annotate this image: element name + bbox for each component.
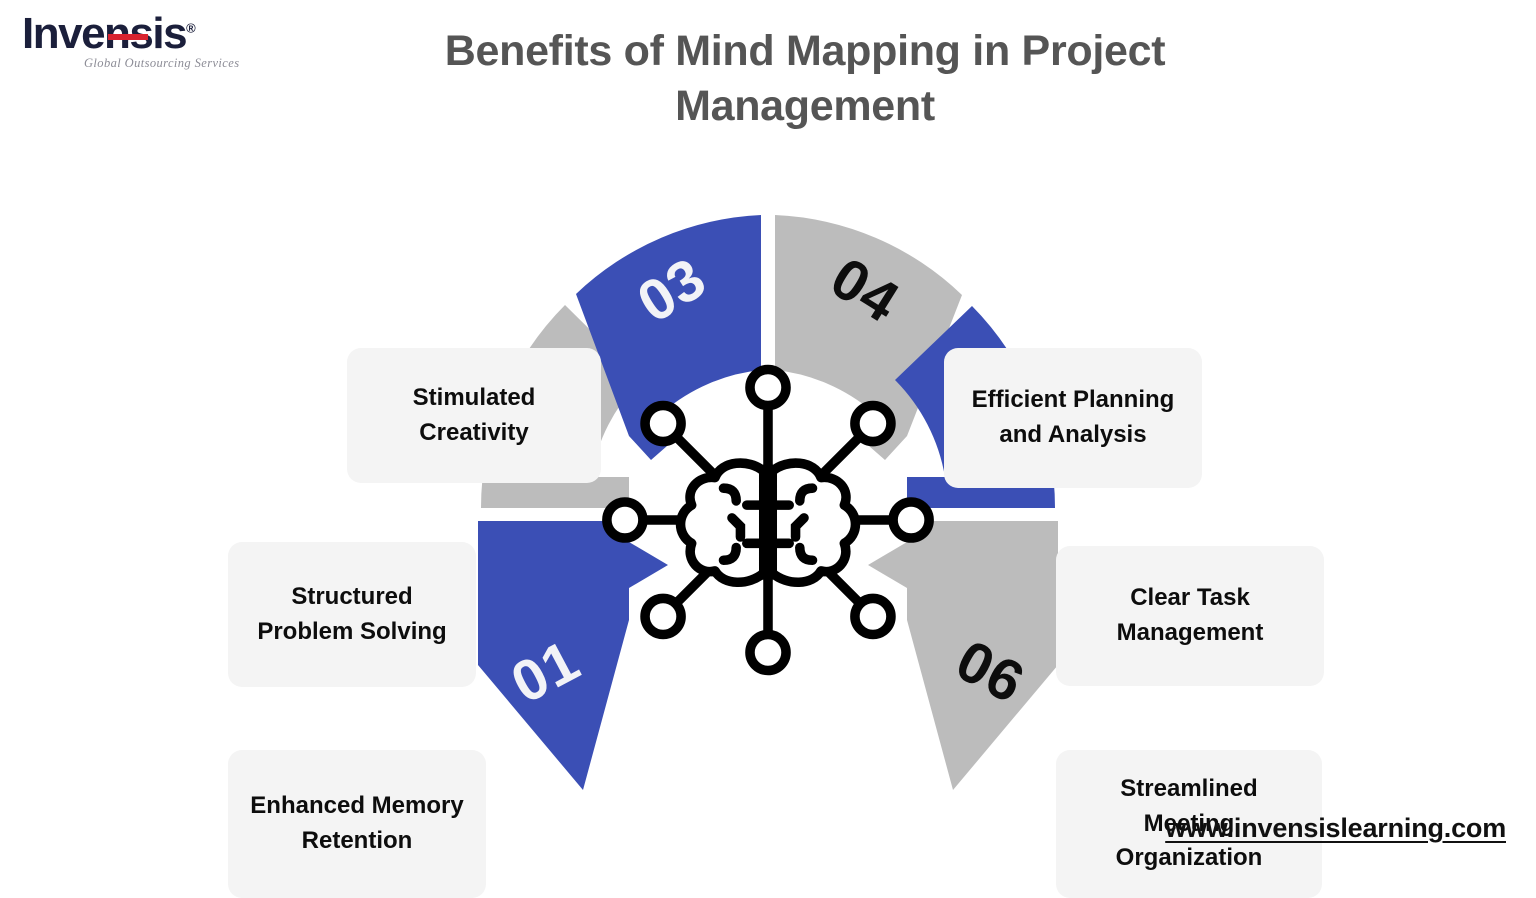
label-card-structured-problem-solving[interactable]: Structured Problem Solving	[228, 542, 476, 687]
label-text-01: Enhanced Memory Retention	[246, 789, 468, 859]
page-title: Benefits of Mind Mapping in Project Mana…	[330, 24, 1280, 134]
brain-network-icon	[607, 369, 929, 670]
segmented-arc-wheel: 01 02 03 04 05	[433, 190, 1103, 810]
label-text-04: Efficient Planning and Analysis	[962, 383, 1184, 453]
logo-red-accent-bar	[108, 34, 148, 40]
registered-trademark-icon: ®	[186, 20, 196, 35]
label-text-03: Stimulated Creativity	[365, 381, 583, 451]
segment-06[interactable]: 06	[868, 521, 1058, 790]
label-card-stimulated-creativity[interactable]: Stimulated Creativity	[347, 348, 601, 483]
website-url-link[interactable]: www.invensislearning.com	[1165, 813, 1506, 844]
label-card-clear-task-management[interactable]: Clear Task Management	[1056, 546, 1324, 686]
logo-name-text: Invensis	[22, 9, 186, 58]
infographic-diagram: 01 02 03 04 05	[0, 150, 1536, 810]
label-card-efficient-planning-and-analysis[interactable]: Efficient Planning and Analysis	[944, 348, 1202, 488]
label-text-05: Clear Task Management	[1074, 581, 1306, 651]
label-text-02: Structured Problem Solving	[246, 580, 458, 650]
label-card-enhanced-memory-retention[interactable]: Enhanced Memory Retention	[228, 750, 486, 898]
company-logo: Invensis® Global Outsourcing Services	[22, 12, 252, 74]
logo-tagline: Global Outsourcing Services	[84, 56, 239, 71]
logo-wordmark: Invensis®	[22, 12, 252, 56]
segment-01[interactable]: 01	[478, 521, 668, 790]
